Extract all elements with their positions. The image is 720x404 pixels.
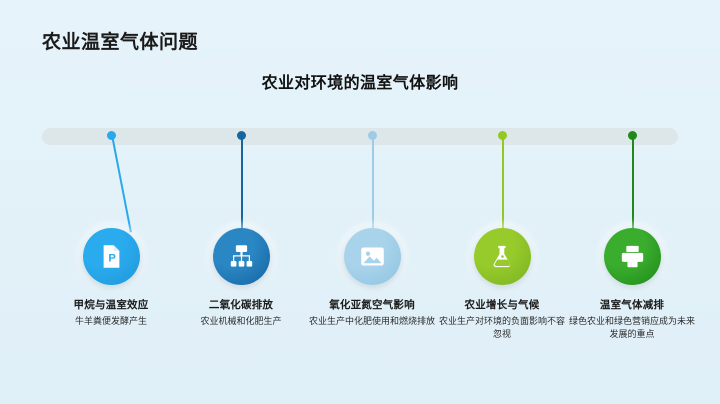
item-description: 农业生产中化肥使用和燃烧排放 (309, 315, 435, 328)
timeline-item[interactable]: 温室气体减排绿色农业和绿色营销应成为未来发展的重点 (567, 0, 697, 404)
item-description: 绿色农业和绿色营销应成为未来发展的重点 (569, 315, 695, 341)
item-label: 甲烷与温室效应 (44, 298, 178, 312)
timeline-item[interactable]: 农业增长与气候农业生产对环境的负面影响不容忽视 (437, 0, 567, 404)
item-description: 农业机械和化肥生产 (178, 315, 304, 328)
timeline-item[interactable]: 二氧化碳排放农业机械和化肥生产 (176, 0, 306, 404)
svg-text:P: P (108, 252, 116, 264)
item-label: 氧化亚氮空气影响 (305, 298, 439, 312)
item-label: 温室气体减排 (565, 298, 699, 312)
flask-icon-bubble[interactable] (474, 228, 531, 285)
timeline-connector (632, 135, 634, 232)
timeline-item[interactable]: P甲烷与温室效应牛羊粪便发酵产生 (46, 0, 176, 404)
timeline-item[interactable]: 氧化亚氮空气影响农业生产中化肥使用和燃烧排放 (307, 0, 437, 404)
timeline-items: P甲烷与温室效应牛羊粪便发酵产生二氧化碳排放农业机械和化肥生产氧化亚氮空气影响农… (0, 0, 720, 404)
timeline-connector (372, 135, 374, 232)
image-icon (359, 243, 386, 270)
sitemap-icon (228, 243, 255, 270)
item-description: 牛羊粪便发酵产生 (48, 315, 174, 328)
sitemap-icon-bubble[interactable] (213, 228, 270, 285)
printer-icon-bubble[interactable] (604, 228, 661, 285)
slide-canvas: 农业温室气体问题 农业对环境的温室气体影响 P甲烷与温室效应牛羊粪便发酵产生二氧… (0, 0, 720, 404)
flask-icon (489, 243, 516, 270)
image-icon-bubble[interactable] (344, 228, 401, 285)
item-description: 农业生产对环境的负面影响不容忽视 (439, 315, 565, 341)
item-label: 农业增长与气候 (435, 298, 569, 312)
timeline-connector (502, 135, 504, 232)
document-p-icon-bubble[interactable]: P (83, 228, 140, 285)
document-p-icon: P (98, 243, 125, 270)
timeline-connector (241, 135, 243, 232)
printer-icon (619, 243, 646, 270)
timeline-connector (111, 135, 132, 233)
item-label: 二氧化碳排放 (174, 298, 308, 312)
